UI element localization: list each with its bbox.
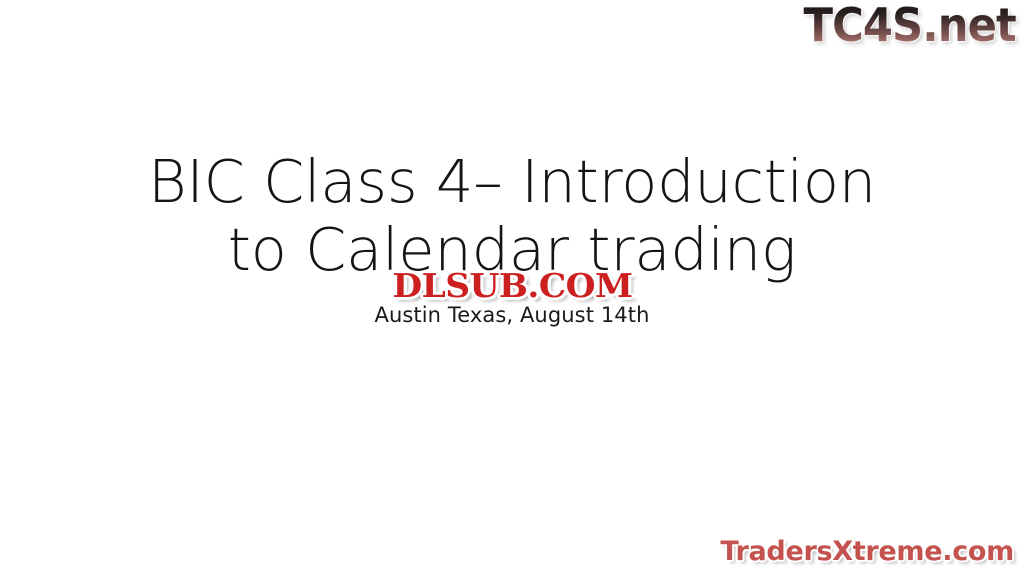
- title-block: BIC Class 4– Introduction to Calendar tr…: [0, 148, 1024, 328]
- presentation-slide: TC4S.net BIC Class 4– Introduction to Ca…: [0, 0, 1024, 576]
- slide-subtitle: Austin Texas, August 14th: [0, 302, 1024, 328]
- watermark-tradersxtreme-com: TradersXtreme.com: [720, 536, 1014, 568]
- watermark-tc4s-net: TC4S.net: [804, 0, 1016, 50]
- page-title: BIC Class 4– Introduction to Calendar tr…: [0, 148, 1024, 284]
